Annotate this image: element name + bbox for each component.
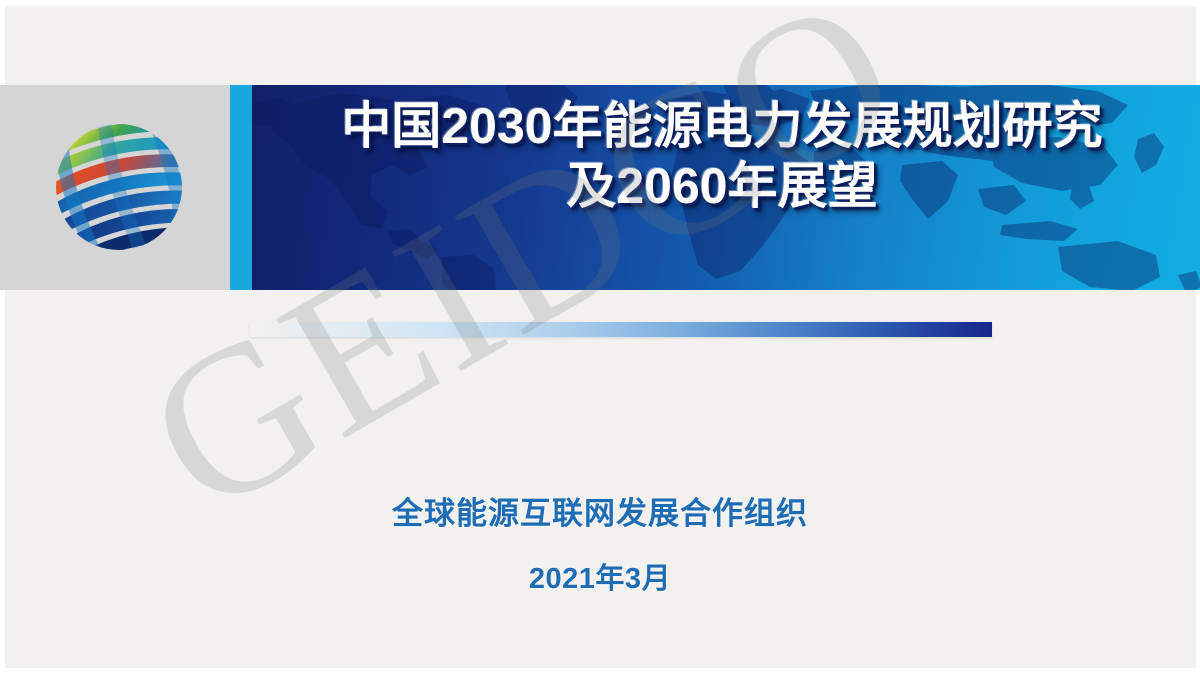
header-band: 中国2030年能源电力发展规划研究 及2060年展望 — [0, 85, 1200, 290]
slide-title: 中国2030年能源电力发展规划研究 及2060年展望 — [252, 101, 1192, 211]
title-line-2: 及2060年展望 — [252, 161, 1192, 211]
accent-gradient-rule — [250, 322, 992, 337]
slide-edge-bottom — [0, 668, 1200, 675]
logo-panel — [0, 85, 230, 290]
title-line-1: 中国2030年能源电力发展规划研究 — [252, 101, 1192, 151]
organization-name: 全球能源互联网发展合作组织 — [0, 488, 1200, 533]
slide-edge-top — [0, 0, 1200, 6]
presentation-date: 2021年3月 — [0, 555, 1200, 597]
cyan-divider-strip — [230, 85, 252, 290]
presentation-title-slide: 中国2030年能源电力发展规划研究 及2060年展望 GEIDCO 全球能源互联… — [0, 0, 1200, 675]
geidco-globe-logo-icon — [45, 113, 193, 261]
